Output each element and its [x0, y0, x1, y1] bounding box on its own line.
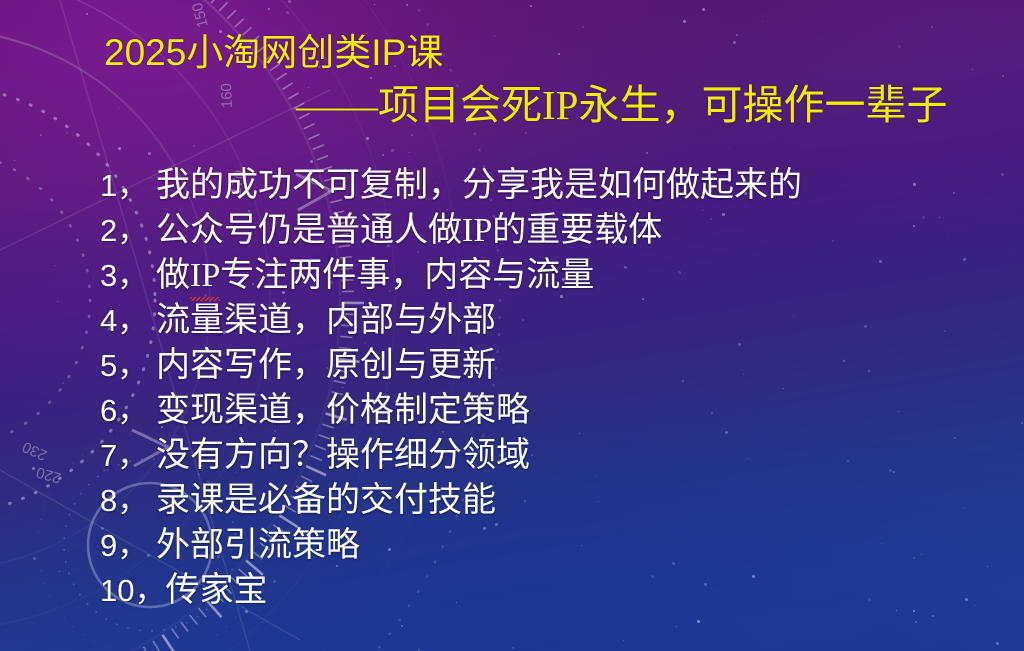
agenda-item-text: 公众号仍是普通人做IP的重要载体	[156, 208, 662, 253]
agenda-item-number: 3，	[100, 253, 156, 298]
agenda-item: 4，流量渠道，内部与外部	[100, 298, 980, 343]
presentation-slide: 150 160 170 220 230 2025小淘网创类IP课 ——项目会死I…	[0, 0, 1024, 651]
agenda-item-text: 外部引流策略	[156, 523, 360, 568]
agenda-item-number: 1，	[100, 163, 156, 208]
agenda-item: 10，传家宝	[100, 568, 980, 613]
agenda-item: 1，我的成功不可复制，分享我是如何做起来的	[100, 163, 980, 208]
agenda-item-text: 没有方向？操作细分领域	[156, 433, 530, 478]
agenda-item: 9，外部引流策略	[100, 523, 980, 568]
agenda-item-number: 6，	[100, 388, 156, 433]
agenda-item-text: 流量渠道，内部与外部	[156, 298, 496, 343]
agenda-item: 5，内容写作，原创与更新	[100, 343, 980, 388]
agenda-item-text: 内容写作，原创与更新	[156, 343, 496, 388]
agenda-item-text: 传家宝	[165, 568, 267, 613]
agenda-item: 2，公众号仍是普通人做IP的重要载体	[100, 208, 980, 253]
agenda-list: 1，我的成功不可复制，分享我是如何做起来的2，公众号仍是普通人做IP的重要载体3…	[100, 163, 980, 613]
agenda-item-number: 7，	[100, 433, 156, 478]
agenda-item-number: 8，	[100, 478, 156, 523]
agenda-item-number: 2，	[100, 208, 156, 253]
slide-title: 2025小淘网创类IP课	[104, 34, 443, 73]
agenda-item-text: 变现渠道，价格制定策略	[156, 388, 530, 433]
agenda-item: 3，做IP专注两件事，内容与流量	[100, 253, 980, 298]
agenda-item-number: 10，	[100, 568, 165, 613]
agenda-item-text: 做IP专注两件事，内容与流量	[156, 253, 594, 298]
spellcheck-underline: IP	[190, 253, 220, 298]
slide-subtitle: ——项目会死IP永生，可操作一辈子	[296, 84, 947, 127]
agenda-item: 8，录课是必备的交付技能	[100, 478, 980, 523]
agenda-item-text: 我的成功不可复制，分享我是如何做起来的	[156, 163, 802, 208]
agenda-item: 7，没有方向？操作细分领域	[100, 433, 980, 478]
agenda-item-number: 5，	[100, 343, 156, 388]
agenda-item-text: 录课是必备的交付技能	[156, 478, 496, 523]
agenda-item-number: 9，	[100, 523, 156, 568]
agenda-item: 6，变现渠道，价格制定策略	[100, 388, 980, 433]
agenda-item-number: 4，	[100, 298, 156, 343]
slide-content: 2025小淘网创类IP课 ——项目会死IP永生，可操作一辈子 1，我的成功不可复…	[0, 0, 1024, 651]
